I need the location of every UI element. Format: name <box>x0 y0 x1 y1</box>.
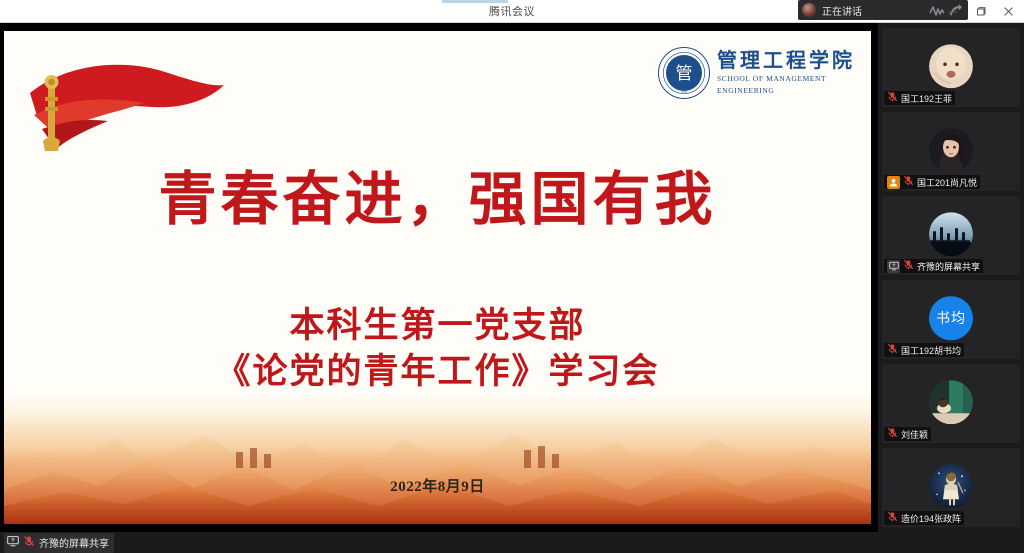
screen-share-icon <box>887 260 900 273</box>
participant-name-bar: 国工192王菲 <box>884 91 955 105</box>
school-name-en-line2: ENGINEERING <box>717 86 855 96</box>
mic-off-icon <box>887 89 898 107</box>
list-item[interactable]: 造价194张政阵 <box>882 448 1020 527</box>
avatar <box>929 44 973 88</box>
shared-screen-stage[interactable]: SCHOOL OF MANAGEMENT ENG. 1958 管 管理工程学院 … <box>0 23 875 532</box>
slide-main-title: 青春奋进，强国有我 <box>4 171 871 229</box>
participant-name: 造价194张政阵 <box>901 512 961 525</box>
screen-share-icon <box>7 534 19 552</box>
school-logo: SCHOOL OF MANAGEMENT ENG. 1958 管 管理工程学院 … <box>658 47 855 99</box>
participant-name: 刘佳颖 <box>901 428 928 441</box>
slide-subtitle: 本科生第一党支部 《论党的青年工作》学习会 <box>4 303 871 395</box>
participant-roster[interactable]: 国工192王菲 <box>878 23 1024 553</box>
participant-name: 国工192王菲 <box>901 92 952 105</box>
status-badge[interactable]: 齐豫的屏幕共享 <box>4 533 114 553</box>
avatar <box>929 128 973 172</box>
active-speaker-avatar <box>802 3 816 17</box>
participant-name-bar: 齐豫的屏幕共享 <box>884 259 983 273</box>
mic-off-icon <box>903 257 914 275</box>
school-logo-text: 管理工程学院 SCHOOL OF MANAGEMENT ENGINEERING <box>717 50 855 96</box>
school-name-en-line1: SCHOOL OF MANAGEMENT <box>717 74 855 84</box>
avatar <box>929 380 973 424</box>
slide-subtitle-line-2: 《论党的青年工作》学习会 <box>4 349 871 395</box>
close-icon[interactable] <box>994 1 1022 21</box>
school-seal-glyph: 管 <box>666 55 702 91</box>
list-item[interactable]: 国工201尚凡悦 <box>882 112 1020 191</box>
minimize-icon[interactable] <box>938 1 966 21</box>
mic-off-icon <box>23 534 35 552</box>
list-item[interactable]: 刘佳颖 <box>882 364 1020 443</box>
tencent-meeting-window: 腾讯会议 正在讲话 <box>0 0 1024 553</box>
mic-off-icon <box>887 341 898 359</box>
maximize-icon[interactable] <box>966 1 994 21</box>
window-controls <box>938 0 1022 22</box>
participant-name-bar: 国工201尚凡悦 <box>884 175 980 189</box>
avatar <box>929 212 973 256</box>
school-seal-icon: SCHOOL OF MANAGEMENT ENG. 1958 管 <box>658 47 710 99</box>
avatar: 书均 <box>929 296 973 340</box>
slide-date: 2022年8月9日 <box>4 475 871 496</box>
participant-name: 国工201尚凡悦 <box>917 176 977 189</box>
school-name-cn: 管理工程学院 <box>717 50 855 72</box>
mic-off-icon <box>887 425 898 443</box>
host-badge-icon <box>887 176 900 189</box>
red-flag-decoration <box>12 45 227 155</box>
avatar <box>929 464 973 508</box>
active-speaker-label: 正在讲话 <box>822 3 929 18</box>
window-titlebar: 腾讯会议 正在讲话 <box>0 0 1024 23</box>
mic-off-icon <box>903 173 914 191</box>
list-item[interactable]: 齐豫的屏幕共享 <box>882 196 1020 275</box>
participant-name-bar: 造价194张政阵 <box>884 511 964 525</box>
list-item[interactable]: 书均 国工192胡书均 <box>882 280 1020 359</box>
participant-name-bar: 刘佳颖 <box>884 427 931 441</box>
participant-name: 国工192胡书均 <box>901 344 961 357</box>
share-status-label: 齐豫的屏幕共享 <box>39 535 109 550</box>
screen-share-status-bar: 齐豫的屏幕共享 <box>0 532 878 553</box>
list-item[interactable]: 国工192王菲 <box>882 28 1020 107</box>
participant-name-bar: 国工192胡书均 <box>884 343 964 357</box>
great-wall-illustration <box>4 394 871 524</box>
presentation-slide: SCHOOL OF MANAGEMENT ENG. 1958 管 管理工程学院 … <box>4 31 871 524</box>
participant-name: 齐豫的屏幕共享 <box>917 260 980 273</box>
mic-off-icon <box>887 509 898 527</box>
slide-subtitle-line-1: 本科生第一党支部 <box>4 303 871 349</box>
